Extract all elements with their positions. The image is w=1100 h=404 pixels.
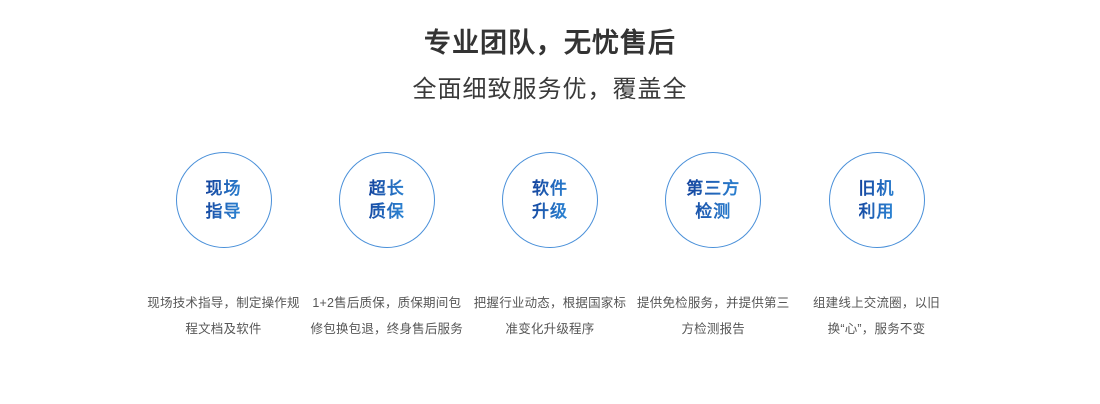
feature-circle: 软件 升级 bbox=[502, 152, 598, 248]
heading-block: 专业团队，无忧售后 全面细致服务优，覆盖全 bbox=[0, 0, 1100, 106]
feature-circle-label: 软件 升级 bbox=[532, 177, 568, 223]
feature-item-third-party-inspection[interactable]: 第三方 检测 提供免检服务，并提供第三方检测报告 bbox=[636, 152, 791, 342]
feature-circle-label: 超长 质保 bbox=[369, 177, 405, 223]
page-subtitle: 全面细致服务优，覆盖全 bbox=[0, 74, 1100, 106]
feature-circle-label: 现场 指导 bbox=[206, 177, 242, 223]
feature-circle-label: 第三方 检测 bbox=[686, 177, 740, 223]
page-title: 专业团队，无忧售后 bbox=[0, 26, 1100, 60]
feature-item-software-upgrade[interactable]: 软件 升级 把握行业动态，根据国家标准变化升级程序 bbox=[473, 152, 628, 342]
feature-circle: 现场 指导 bbox=[176, 152, 272, 248]
feature-description: 1+2售后质保，质保期间包修包换包退，终身售后服务 bbox=[307, 290, 467, 342]
feature-circle: 超长 质保 bbox=[339, 152, 435, 248]
feature-item-old-machine-reuse[interactable]: 旧机 利用 组建线上交流圈，以旧换“心”，服务不变 bbox=[799, 152, 954, 342]
feature-description: 提供免检服务，并提供第三方检测报告 bbox=[633, 290, 793, 342]
feature-item-onsite-guidance[interactable]: 现场 指导 现场技术指导，制定操作规程文档及软件 bbox=[146, 152, 301, 342]
feature-description: 现场技术指导，制定操作规程文档及软件 bbox=[144, 290, 304, 342]
feature-description: 组建线上交流圈，以旧换“心”，服务不变 bbox=[797, 290, 957, 342]
feature-description: 把握行业动态，根据国家标准变化升级程序 bbox=[470, 290, 630, 342]
feature-item-extended-warranty[interactable]: 超长 质保 1+2售后质保，质保期间包修包换包退，终身售后服务 bbox=[309, 152, 464, 342]
service-features-section: 专业团队，无忧售后 全面细致服务优，覆盖全 现场 指导 现场技术指导，制定操作规… bbox=[0, 0, 1100, 404]
feature-circle: 旧机 利用 bbox=[829, 152, 925, 248]
feature-circle-label: 旧机 利用 bbox=[859, 177, 895, 223]
feature-list: 现场 指导 现场技术指导，制定操作规程文档及软件 超长 质保 1+2售后质保，质… bbox=[146, 152, 954, 342]
feature-circle: 第三方 检测 bbox=[665, 152, 761, 248]
